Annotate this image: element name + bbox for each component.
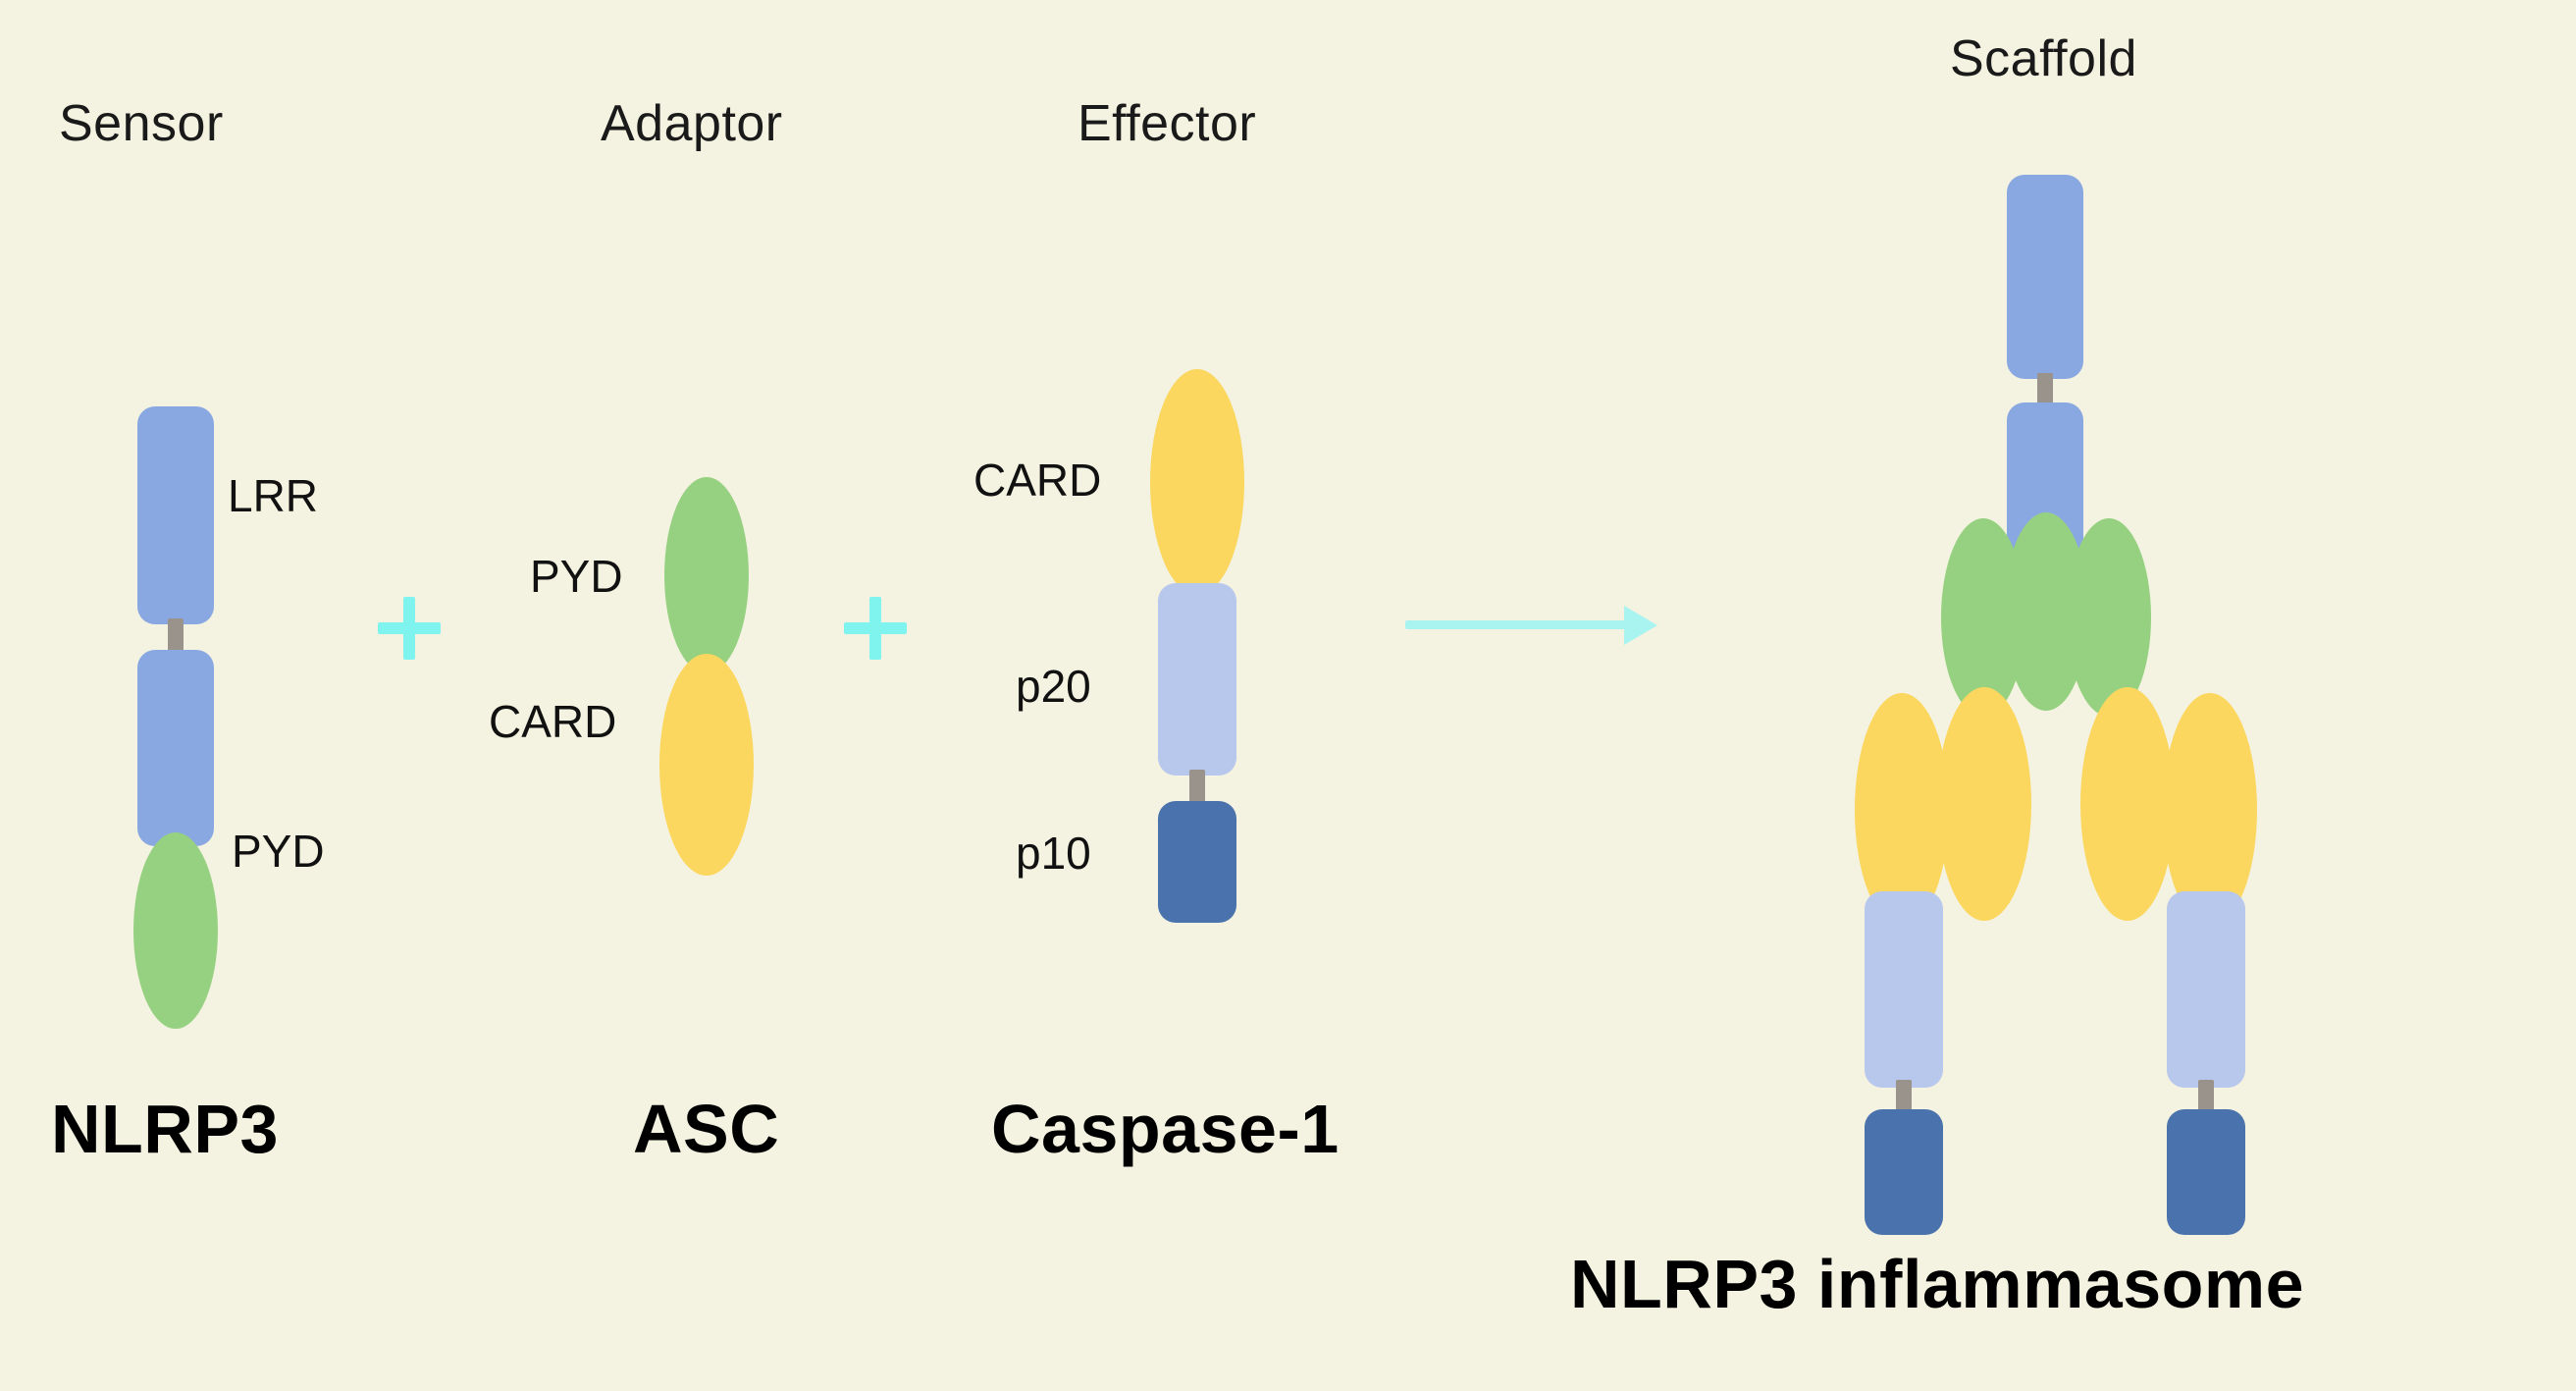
- domain-label-asc-pyd: PYD: [530, 550, 623, 603]
- domain-nlrp3-lrr: [137, 406, 214, 624]
- plus-sign-1: [378, 597, 441, 660]
- protein-name-caspase1: Caspase-1: [991, 1090, 1340, 1168]
- assembly-title: NLRP3 inflammasome: [1570, 1245, 2304, 1323]
- assembly-lrr: [2007, 175, 2083, 379]
- assembly-card-3: [2080, 687, 2175, 921]
- domain-asc-card: [659, 654, 754, 876]
- reaction-arrow-line: [1405, 620, 1631, 629]
- domain-caspase1-p10: [1158, 801, 1236, 923]
- column-role-label-effector: Effector: [1078, 94, 1256, 153]
- column-role-label-sensor: Sensor: [59, 94, 224, 153]
- plus-sign-2: [844, 597, 907, 660]
- assembly-p10-left: [1865, 1109, 1943, 1235]
- domain-label-lrr: LRR: [228, 469, 318, 522]
- domain-asc-pyd: [664, 477, 749, 673]
- assembly-pyd-3: [2067, 518, 2151, 717]
- assembly-p10-right: [2167, 1109, 2245, 1235]
- protein-name-nlrp3: NLRP3: [51, 1090, 279, 1168]
- assembly-p20-right: [2167, 891, 2245, 1088]
- reaction-arrow-head: [1624, 606, 1657, 645]
- column-role-label-adaptor: Adaptor: [601, 94, 783, 153]
- domain-label-caspase1-card: CARD: [973, 454, 1101, 507]
- domain-label-p10: p10: [1016, 827, 1091, 880]
- domain-label-asc-card: CARD: [489, 695, 616, 748]
- domain-caspase1-p20: [1158, 583, 1236, 776]
- domain-caspase1-card: [1150, 369, 1244, 595]
- domain-label-nlrp3-pyd: PYD: [232, 825, 325, 878]
- protein-name-asc: ASC: [633, 1090, 779, 1168]
- figure-canvas: Sensor LRR PYD NLRP3 Adaptor PYD CARD AS…: [0, 0, 2576, 1391]
- domain-label-p20: p20: [1016, 660, 1091, 713]
- assembly-p20-left: [1865, 891, 1943, 1088]
- assembly-role-label-scaffold: Scaffold: [1950, 29, 2137, 88]
- assembly-card-2: [1937, 687, 2031, 921]
- domain-nlrp3-pyd: [133, 832, 218, 1029]
- domain-nlrp3-nacht: [137, 650, 214, 846]
